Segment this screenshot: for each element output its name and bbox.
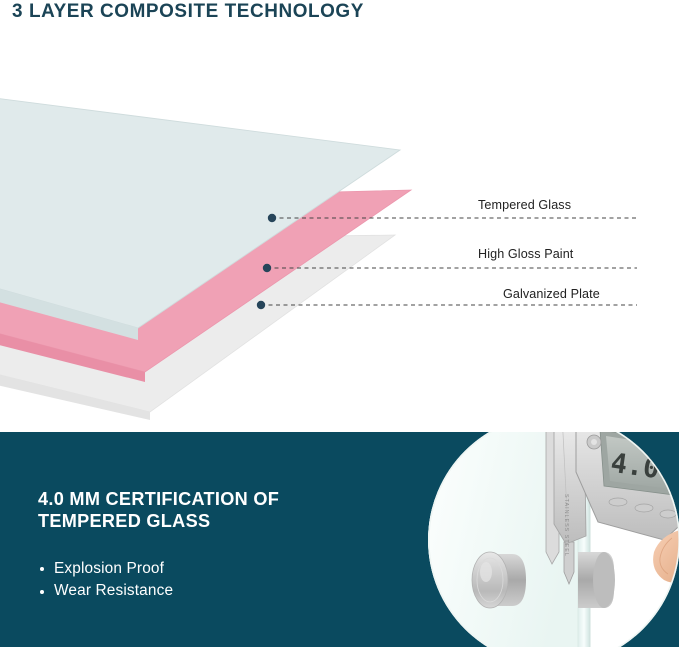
callout-label-high-gloss-paint: High Gloss Paint — [478, 247, 573, 261]
list-item: Explosion Proof — [40, 558, 173, 580]
caliper-unit-button[interactable] — [635, 504, 653, 512]
feature-label: Explosion Proof — [54, 560, 164, 577]
caliper-photo-inset: STAINLESS STEEL 4.00 — [428, 432, 679, 647]
layer-diagram-svg — [0, 60, 679, 425]
bullet-icon — [40, 590, 44, 594]
caliper-brand-text: STAINLESS STEEL — [563, 494, 569, 557]
feature-list: Explosion Proof Wear Resistance — [40, 558, 173, 603]
list-item: Wear Resistance — [40, 580, 173, 602]
callout-label-galvanized-plate: Galvanized Plate — [503, 287, 600, 301]
page-title: 3 LAYER COMPOSITE TECHNOLOGY — [12, 0, 364, 23]
infographic-page: 3 LAYER COMPOSITE TECHNOLOGY — [0, 0, 679, 647]
callout-leader-plate — [257, 301, 637, 309]
panel-heading: 4.0 MM CERTIFICATION OF TEMPERED GLASS — [38, 488, 279, 532]
knob-rear — [578, 552, 615, 608]
feature-label: Wear Resistance — [54, 582, 173, 599]
knob-front — [472, 552, 526, 608]
caliper-zero-button[interactable] — [609, 498, 627, 506]
tempered-glass-certification-panel: 4.0 MM CERTIFICATION OF TEMPERED GLASS E… — [0, 432, 679, 647]
layer-diagram — [0, 60, 679, 425]
callout-label-tempered-glass: Tempered Glass — [478, 198, 571, 212]
caliper-onoff-button[interactable] — [660, 510, 676, 518]
bullet-icon — [40, 567, 44, 571]
caliper-photo-svg: STAINLESS STEEL 4.00 — [428, 432, 679, 647]
